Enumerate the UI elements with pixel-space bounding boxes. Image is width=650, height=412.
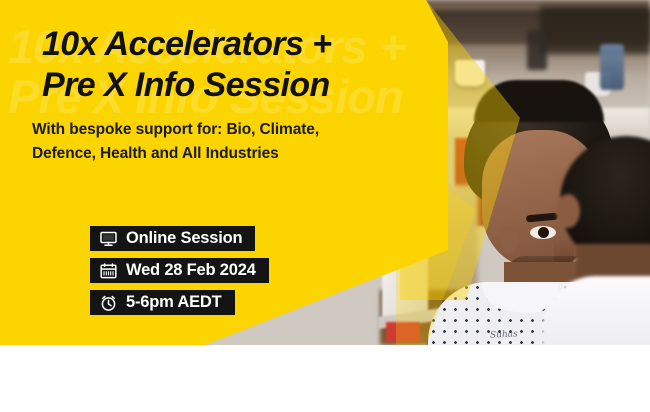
photo-bottle-secondary bbox=[527, 30, 547, 70]
calendar-icon bbox=[100, 263, 117, 279]
photo-shelf-dark bbox=[540, 6, 650, 54]
detail-pill-label: 5-6pm AEDT bbox=[126, 294, 222, 312]
headline-line-1: 10x Accelerators + bbox=[42, 24, 432, 65]
event-photo: Suhas 10x Accelerators + Pre X Info Sess… bbox=[0, 0, 650, 345]
headline-line-2: Pre X Info Session bbox=[42, 65, 432, 106]
person-eye-left bbox=[530, 226, 556, 239]
detail-pill-label: Wed 28 Feb 2024 bbox=[126, 262, 256, 280]
alarm-clock-icon bbox=[100, 295, 117, 311]
shirt-name-embroidery: Suhas bbox=[490, 329, 518, 340]
footer-bar: UNSW SYDNEY FO U NDERS bbox=[0, 345, 650, 412]
person-eyebrow-left bbox=[526, 213, 558, 223]
subtitle-line-1: With bespoke support for: Bio, Climate, bbox=[32, 118, 392, 142]
foreground-person-ear bbox=[556, 194, 580, 228]
monitor-icon bbox=[100, 231, 117, 247]
photo-person-foreground bbox=[560, 136, 650, 345]
detail-pill-time: 5-6pm AEDT bbox=[90, 290, 235, 315]
event-poster: Suhas 10x Accelerators + Pre X Info Sess… bbox=[0, 0, 650, 412]
detail-pill-online-session: Online Session bbox=[90, 226, 255, 251]
person-ear bbox=[500, 226, 518, 254]
detail-pill-label: Online Session bbox=[126, 230, 242, 248]
subtitle: With bespoke support for: Bio, Climate, … bbox=[32, 118, 392, 166]
subtitle-line-2: Defence, Health and All Industries bbox=[32, 142, 392, 166]
event-details-list: Online Session Wed 28 Feb 2024 bbox=[90, 226, 269, 315]
page-title: 10x Accelerators + Pre X Info Session bbox=[42, 24, 432, 106]
photo-bottle bbox=[600, 44, 624, 90]
detail-pill-date: Wed 28 Feb 2024 bbox=[90, 258, 269, 283]
